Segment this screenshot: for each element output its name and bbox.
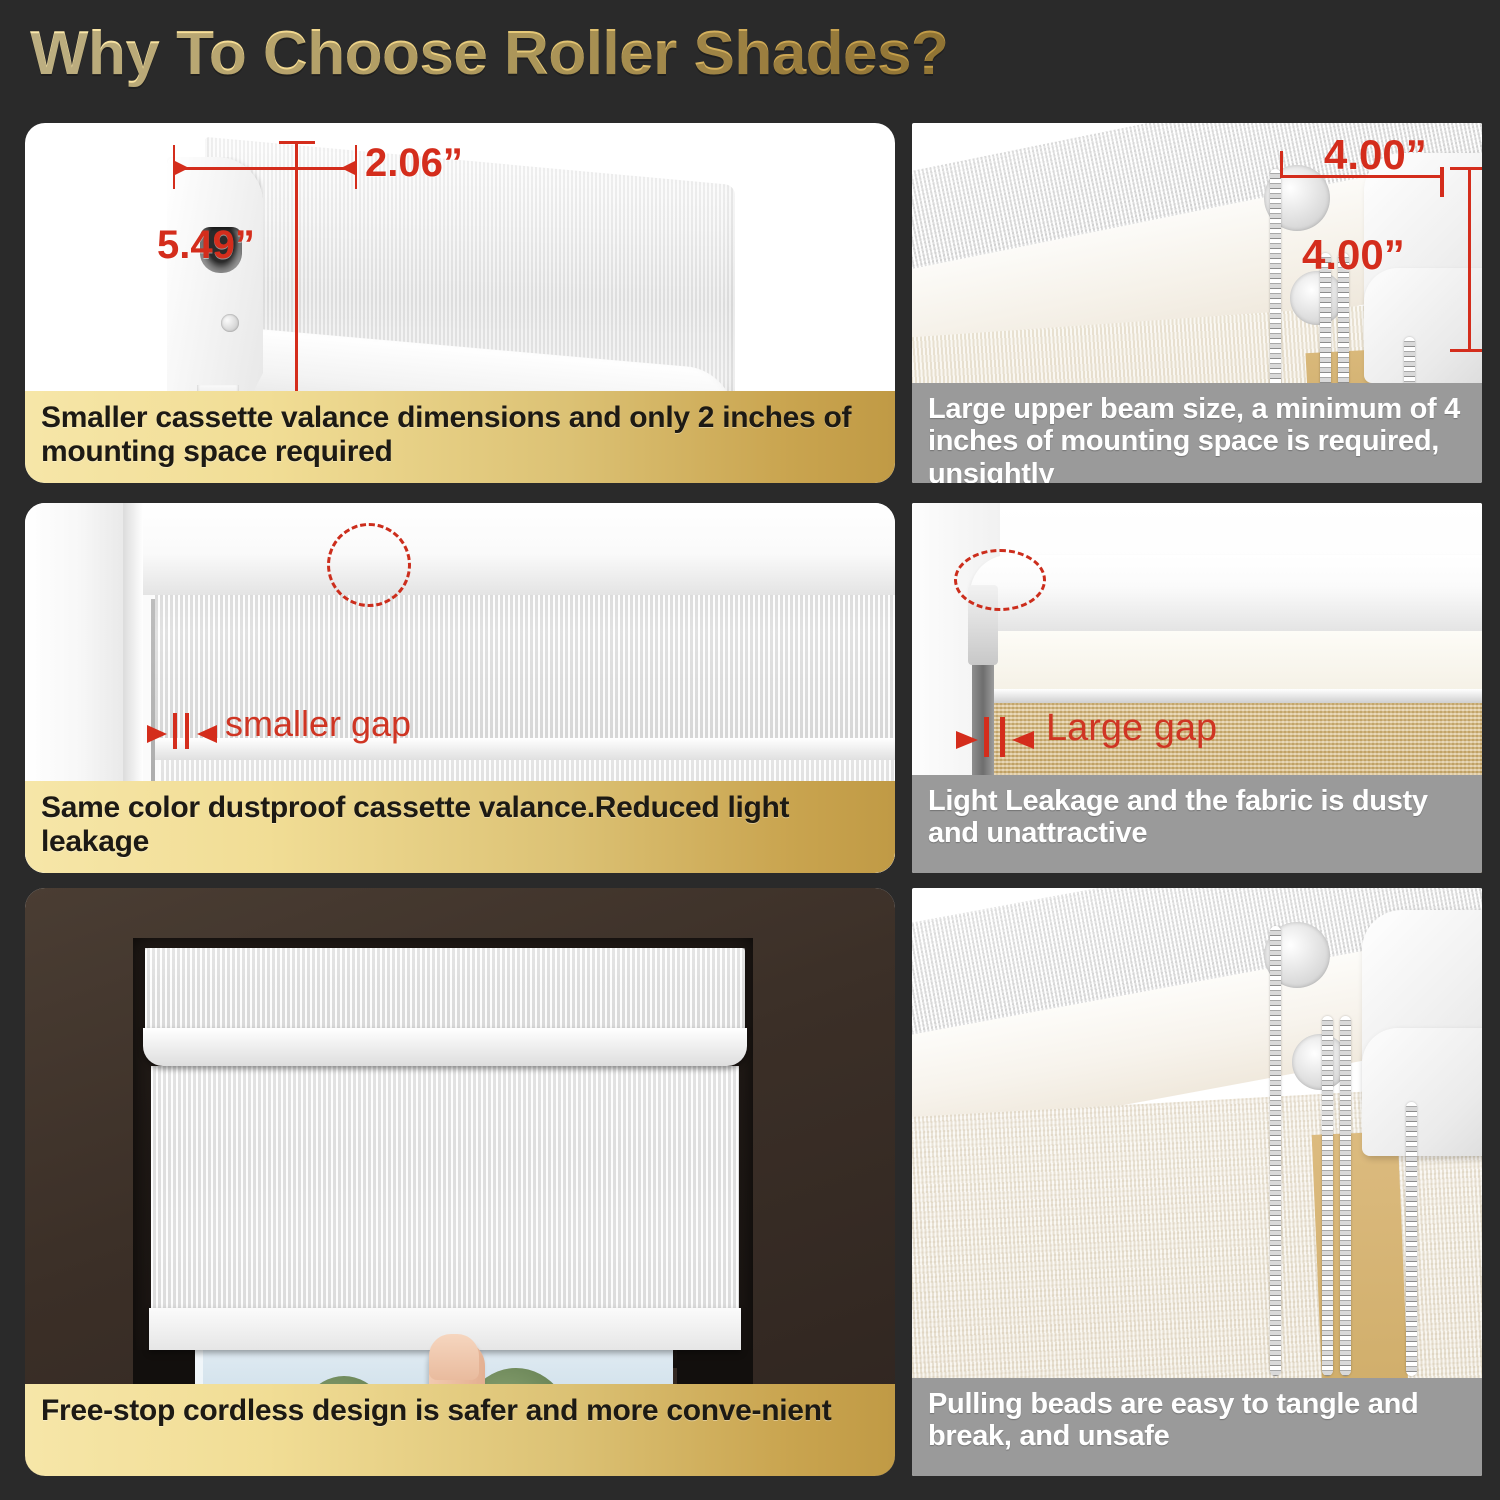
highlight-circle-icon	[954, 549, 1046, 611]
bead-chain-2	[1322, 1016, 1333, 1376]
gap-arrow-left-icon	[147, 725, 167, 743]
dim-line-height	[1468, 167, 1471, 351]
panel-con-pulling-beads: Pulling beads are easy to tangle and bre…	[912, 888, 1482, 1476]
panel-caption: Large upper beam size, a minimum of 4 in…	[912, 383, 1482, 483]
dimension-width-label: 4.00”	[1324, 131, 1427, 179]
title-bar: Why To Choose Roller Shades?	[0, 0, 1500, 118]
gap-arrow-right-icon	[1012, 731, 1034, 749]
panel-caption: Pulling beads are easy to tangle and bre…	[912, 1378, 1482, 1476]
bead-chain-4	[1406, 1102, 1417, 1376]
highlight-circle-icon	[327, 523, 411, 607]
panel-pro-dustproof-valance: smaller gap Same color dustproof cassett…	[25, 503, 895, 873]
gap-tick-b	[185, 713, 189, 749]
gap-tick-a	[173, 713, 177, 749]
panel-caption: Light Leakage and the fabric is dusty an…	[912, 775, 1482, 873]
rail	[982, 689, 1482, 703]
bead-chain-3	[1340, 1016, 1351, 1376]
dim-line-width	[173, 167, 357, 170]
dim-tick-right	[1440, 167, 1444, 197]
screw-icon	[221, 314, 239, 332]
shade-fabric	[151, 1066, 739, 1321]
dimension-width-label: 2.06”	[365, 141, 463, 186]
mounting-bracket-lower	[1364, 268, 1482, 383]
dimension-height-label: 5.49”	[157, 223, 255, 268]
panel-con-beam-size: 4.00” 4.00” Large upper beam size, a min…	[912, 123, 1482, 483]
gap-arrow-right-icon	[197, 725, 217, 743]
dim-arrow-left-icon	[173, 160, 189, 176]
dim-cap-top	[279, 141, 315, 144]
gap-arrow-left-icon	[956, 731, 978, 749]
mounting-bracket-lower	[1362, 1028, 1482, 1156]
dimension-height-label: 4.00”	[1302, 231, 1405, 279]
panel-pro-cordless-design: Free-stop cordless design is safer and m…	[25, 888, 895, 1476]
gap-tick-b	[1000, 717, 1005, 757]
dim-cap-bottom	[1450, 349, 1482, 352]
panel-caption: Same color dustproof cassette valance.Re…	[25, 781, 895, 873]
window-header	[125, 503, 895, 595]
dim-tick-left	[1280, 151, 1283, 177]
roller-tube	[970, 555, 1482, 633]
dim-cap-top	[1450, 167, 1482, 170]
panel-pro-cassette-size: 2.06” 5.49” Smaller cassette valance dim…	[25, 123, 895, 483]
fingers	[429, 1334, 479, 1380]
panel-caption: Free-stop cordless design is safer and m…	[25, 1384, 895, 1476]
valance-lip	[143, 1028, 747, 1066]
roller-disc-lower-icon	[1290, 271, 1344, 325]
fabric-band	[982, 631, 1482, 691]
dim-arrow-right-icon	[341, 160, 357, 176]
gap-tick-a	[984, 717, 989, 757]
bead-chain-1	[1270, 926, 1281, 1376]
panel-caption: Smaller cassette valance dimensions and …	[25, 391, 895, 483]
page-title: Why To Choose Roller Shades?	[30, 18, 948, 89]
panel-con-light-leakage: Large gap Light Leakage and the fabric i…	[912, 503, 1482, 873]
cassette-valance	[145, 948, 745, 1030]
gap-callout-label: smaller gap	[225, 703, 411, 745]
gap-callout-label: Large gap	[1046, 707, 1217, 750]
